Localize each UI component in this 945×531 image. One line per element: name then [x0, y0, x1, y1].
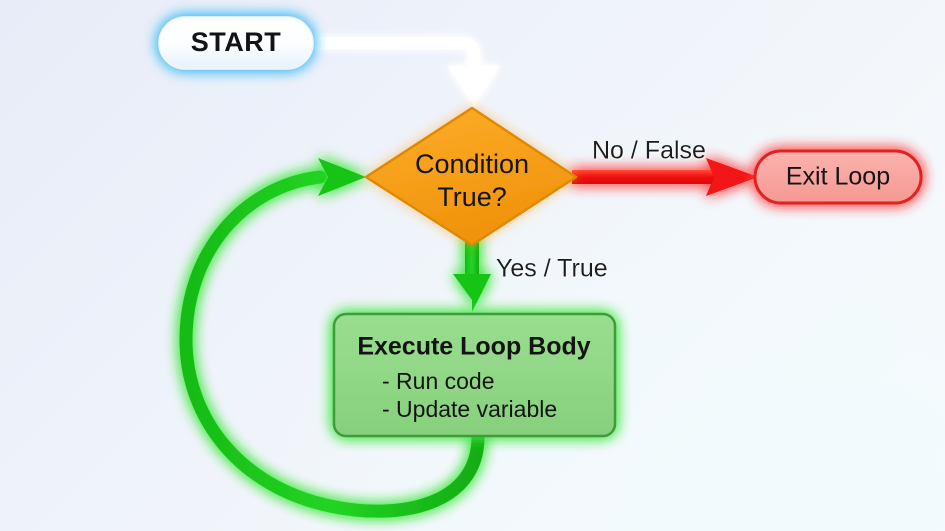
node-loop-body-bullet-1: - Update variable	[382, 396, 557, 422]
edge-start-to-condition	[312, 43, 500, 106]
flowchart-svg: START No / False Yes / True Condition Tr…	[0, 0, 945, 531]
edge-label-no-false: No / False	[592, 137, 706, 165]
edge-label-yes-true: Yes / True	[496, 255, 608, 283]
node-condition-line1: Condition	[415, 149, 529, 179]
node-exit-loop-label: Exit Loop	[786, 163, 890, 191]
node-condition-line2: True?	[437, 182, 507, 212]
flowchart-canvas: START No / False Yes / True Condition Tr…	[0, 0, 945, 531]
node-loop-body-bullet-0: - Run code	[382, 368, 495, 394]
node-loop-body-title: Execute Loop Body	[357, 333, 590, 361]
edge-condition-to-body	[453, 236, 491, 312]
node-start-label: START	[191, 27, 282, 57]
